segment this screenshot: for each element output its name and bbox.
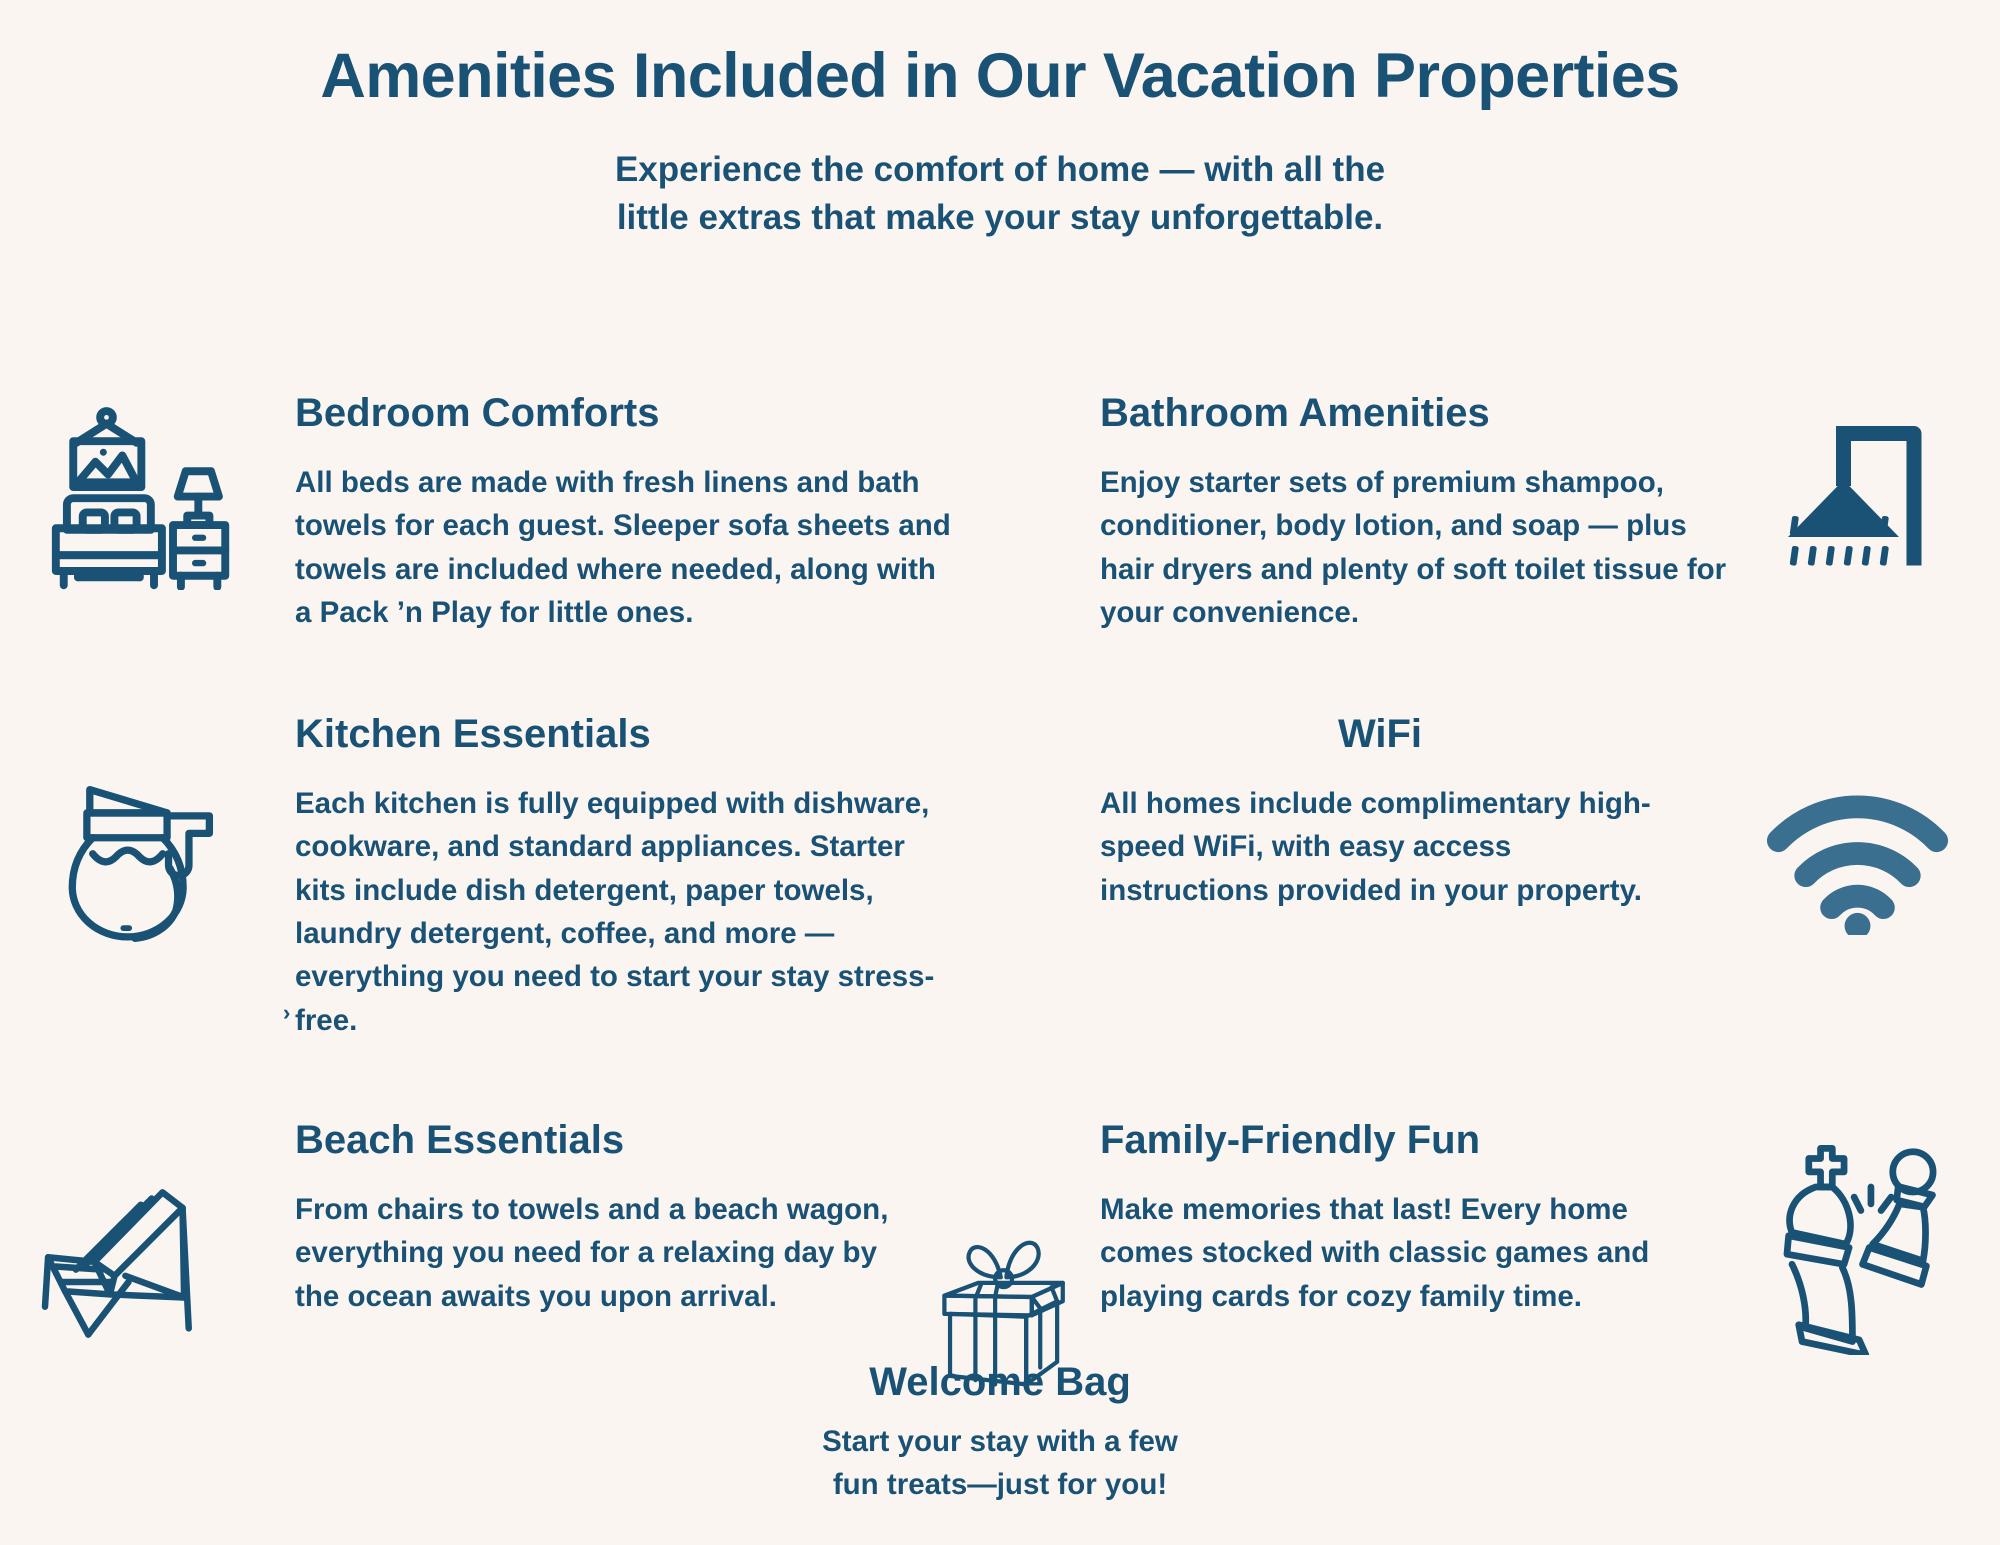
beach-chair-icon	[25, 1180, 235, 1350]
section-kitchen-heading: Kitchen Essentials	[295, 712, 955, 756]
subtitle-line-2: little extras that make your stay unforg…	[0, 194, 2000, 241]
section-welcome-bag-heading: Welcome Bag	[760, 1360, 1240, 1404]
section-wifi-heading: WiFi	[1100, 712, 1660, 756]
stray-mark: ›	[283, 1000, 290, 1026]
section-bedroom: Bedroom Comforts All beds are made with …	[295, 391, 955, 634]
section-wifi: WiFi All homes include complimentary hig…	[1100, 712, 1660, 912]
bed-icon	[40, 400, 230, 590]
section-bedroom-body: All beds are made with fresh linens and …	[295, 461, 955, 634]
section-family-heading: Family-Friendly Fun	[1100, 1118, 1690, 1162]
section-family-body: Make memories that last! Every home come…	[1100, 1188, 1690, 1318]
subtitle-line-1: Experience the comfort of home — with al…	[0, 146, 2000, 193]
section-welcome-bag-body-line-2: fun treats—just for you!	[760, 1463, 1240, 1506]
section-welcome-bag-body-line-1: Start your stay with a few	[760, 1420, 1240, 1463]
page-title: Amenities Included in Our Vacation Prope…	[0, 0, 2000, 112]
section-bathroom: Bathroom Amenities Enjoy starter sets of…	[1100, 391, 1740, 634]
section-beach-body: From chairs to towels and a beach wagon,…	[295, 1188, 905, 1318]
section-family: Family-Friendly Fun Make memories that l…	[1100, 1118, 1690, 1318]
section-beach-heading: Beach Essentials	[295, 1118, 905, 1162]
coffee-pot-icon	[65, 775, 240, 950]
section-kitchen: Kitchen Essentials Each kitchen is fully…	[295, 712, 955, 1042]
infographic-page: Amenities Included in Our Vacation Prope…	[0, 0, 2000, 1545]
header: Amenities Included in Our Vacation Prope…	[0, 0, 2000, 241]
section-beach: Beach Essentials From chairs to towels a…	[295, 1118, 905, 1318]
section-bathroom-heading: Bathroom Amenities	[1100, 391, 1740, 435]
section-welcome-bag: Welcome Bag Start your stay with a few f…	[760, 1360, 1240, 1507]
section-bathroom-body: Enjoy starter sets of premium shampoo, c…	[1100, 461, 1740, 634]
chess-pieces-icon	[1765, 1140, 1950, 1355]
section-bedroom-heading: Bedroom Comforts	[295, 391, 955, 435]
shower-icon	[1770, 405, 1950, 585]
section-wifi-body: All homes include complimentary high-spe…	[1100, 782, 1660, 912]
section-kitchen-body: Each kitchen is fully equipped with dish…	[295, 782, 955, 1042]
wifi-icon	[1765, 795, 1950, 935]
page-subtitle: Experience the comfort of home — with al…	[0, 112, 2000, 241]
